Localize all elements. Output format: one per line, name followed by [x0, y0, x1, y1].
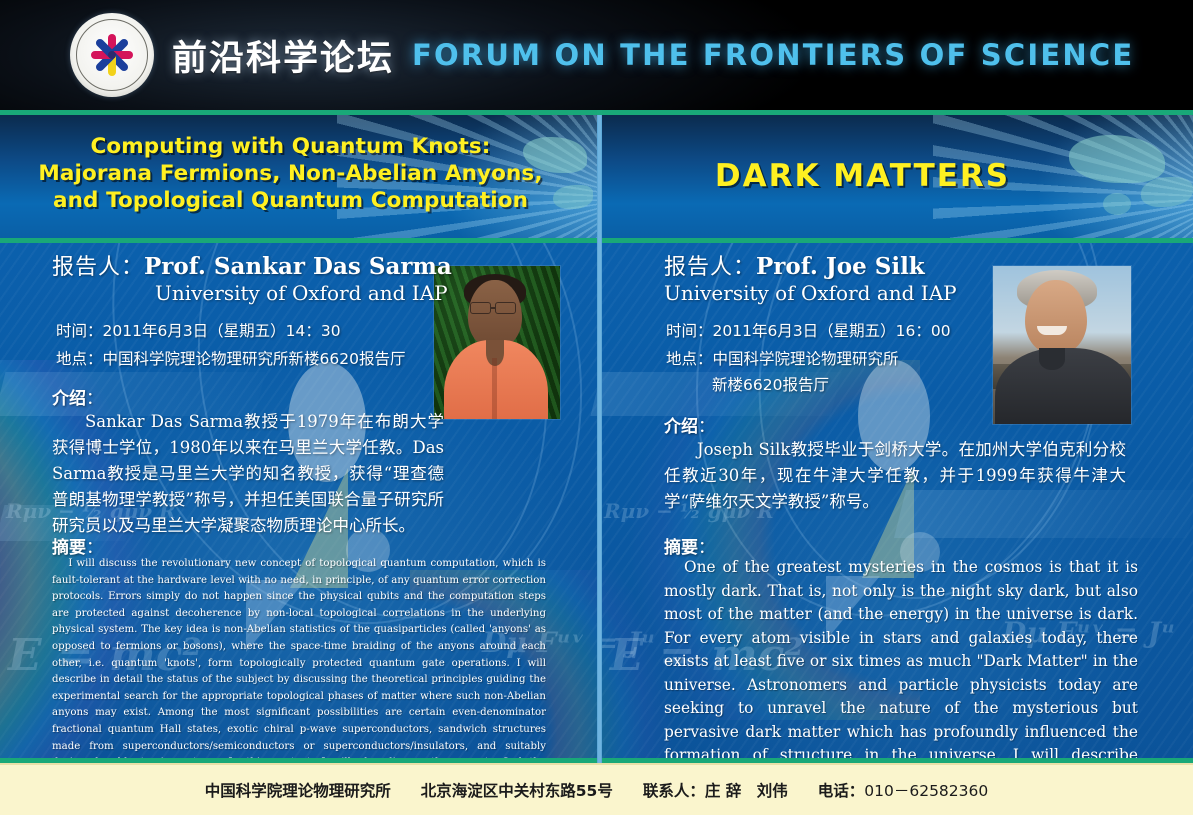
- logo-pinwheel-icon: [86, 29, 138, 81]
- forum-title-cn: 前沿科学论坛: [172, 30, 394, 81]
- speaker-name: Prof. Sankar Das Sarma: [144, 253, 452, 280]
- decor-continent: [1103, 193, 1131, 215]
- talk-title-line: and Topological Quantum Computation: [24, 187, 557, 214]
- abstract-text-left: I will discuss the revolutionary new con…: [52, 556, 546, 758]
- place-value: 中国科学院理论物理研究所: [713, 350, 899, 368]
- poster-footer: 中国科学院理论物理研究所 北京海淀区中关村东路55号 联系人：庄 辞 刘伟 电话…: [0, 763, 1193, 815]
- place-label: 地点：: [666, 350, 713, 368]
- intro-text-right: Joseph Silk教授毕业于剑桥大学。在加州大学伯克利分校任教近30年，现在…: [664, 437, 1126, 515]
- footer-phone-label: 电话：: [818, 782, 865, 800]
- abstract-text-right: One of the greatest mysteries in the cos…: [664, 556, 1138, 758]
- footer-address: 北京海淀区中关村东路55号: [421, 779, 613, 801]
- talk-title-right: DARK MATTERS: [602, 115, 1193, 193]
- place-row-right: 地点：中国科学院理论物理研究所: [666, 347, 899, 369]
- place-row-right-2: 新楼6620报告厅: [712, 373, 829, 395]
- time-row-left: 时间：2011年6月3日（星期五）14：30: [56, 319, 341, 341]
- footer-contact-names: 庄 辞 刘伟: [705, 782, 788, 800]
- talk-title-line: Majorana Fermions, Non-Abelian Anyons,: [24, 160, 557, 187]
- portrait-sankar-das-sarma: [433, 265, 561, 420]
- talk-title-bar-left: Computing with Quantum Knots: Majorana F…: [0, 115, 597, 238]
- talk-title-line: DARK MATTERS: [602, 159, 1123, 193]
- time-label: 时间：: [666, 322, 713, 340]
- talk-panel-left: 报告人：Prof. Sankar Das Sarma University of…: [0, 243, 597, 758]
- speaker-name: Prof. Joe Silk: [756, 253, 925, 280]
- speaker-label: 报告人：: [52, 255, 144, 280]
- place-label: 地点：: [56, 350, 103, 368]
- place-row-left: 地点：中国科学院理论物理研究所新楼6620报告厅: [56, 347, 405, 369]
- footer-institute: 中国科学院理论物理研究所: [205, 779, 391, 801]
- abstract-heading-left: 摘要：: [52, 533, 103, 558]
- talk-panel-right: 报告人：Prof. Joe Silk University of Oxford …: [602, 243, 1193, 758]
- time-value: 2011年6月3日（星期五）14：30: [103, 322, 341, 340]
- speaker-label: 报告人：: [664, 255, 756, 280]
- footer-phone: 010－62582360: [864, 782, 988, 800]
- talk-title-left: Computing with Quantum Knots: Majorana F…: [0, 115, 597, 214]
- talk-title-bar-right: DARK MATTERS: [602, 115, 1193, 238]
- time-value: 2011年6月3日（星期五）16：00: [713, 322, 951, 340]
- abstract-heading-text: 摘要: [664, 538, 698, 558]
- speaker-affiliation-left: University of Oxford and IAP: [155, 281, 448, 305]
- place-value-cont: 新楼6620报告厅: [712, 376, 829, 394]
- intro-heading-text: 介绍: [664, 417, 698, 437]
- poster: 前沿科学论坛 FORUM ON THE FRONTIERS OF SCIENCE…: [0, 0, 1193, 815]
- poster-header: 前沿科学论坛 FORUM ON THE FRONTIERS OF SCIENCE: [0, 0, 1193, 110]
- time-label: 时间：: [56, 322, 103, 340]
- abstract-heading-text: 摘要: [52, 538, 86, 558]
- intro-text-left: Sankar Das Sarma教授于1979年在布朗大学获得博士学位，1980…: [52, 409, 444, 539]
- footer-contact-label: 联系人：: [643, 782, 705, 800]
- intro-heading-left: 介绍：: [52, 384, 103, 409]
- forum-logo-icon: [70, 13, 154, 97]
- intro-heading-text: 介绍: [52, 389, 86, 409]
- portrait-joe-silk: [992, 265, 1132, 425]
- speaker-line-right: 报告人：Prof. Joe Silk: [664, 249, 925, 281]
- intro-heading-right: 介绍：: [664, 412, 715, 437]
- talk-title-line: Computing with Quantum Knots:: [24, 133, 557, 160]
- panel-divider-inner: [598, 115, 601, 763]
- time-row-right: 时间：2011年6月3日（星期五）16：00: [666, 319, 951, 341]
- forum-title-en: FORUM ON THE FRONTIERS OF SCIENCE: [412, 38, 1134, 72]
- place-value: 中国科学院理论物理研究所新楼6620报告厅: [103, 350, 406, 368]
- speaker-affiliation-right: University of Oxford and IAP: [664, 281, 957, 305]
- speaker-line-left: 报告人：Prof. Sankar Das Sarma: [52, 249, 452, 281]
- abstract-heading-right: 摘要：: [664, 533, 715, 558]
